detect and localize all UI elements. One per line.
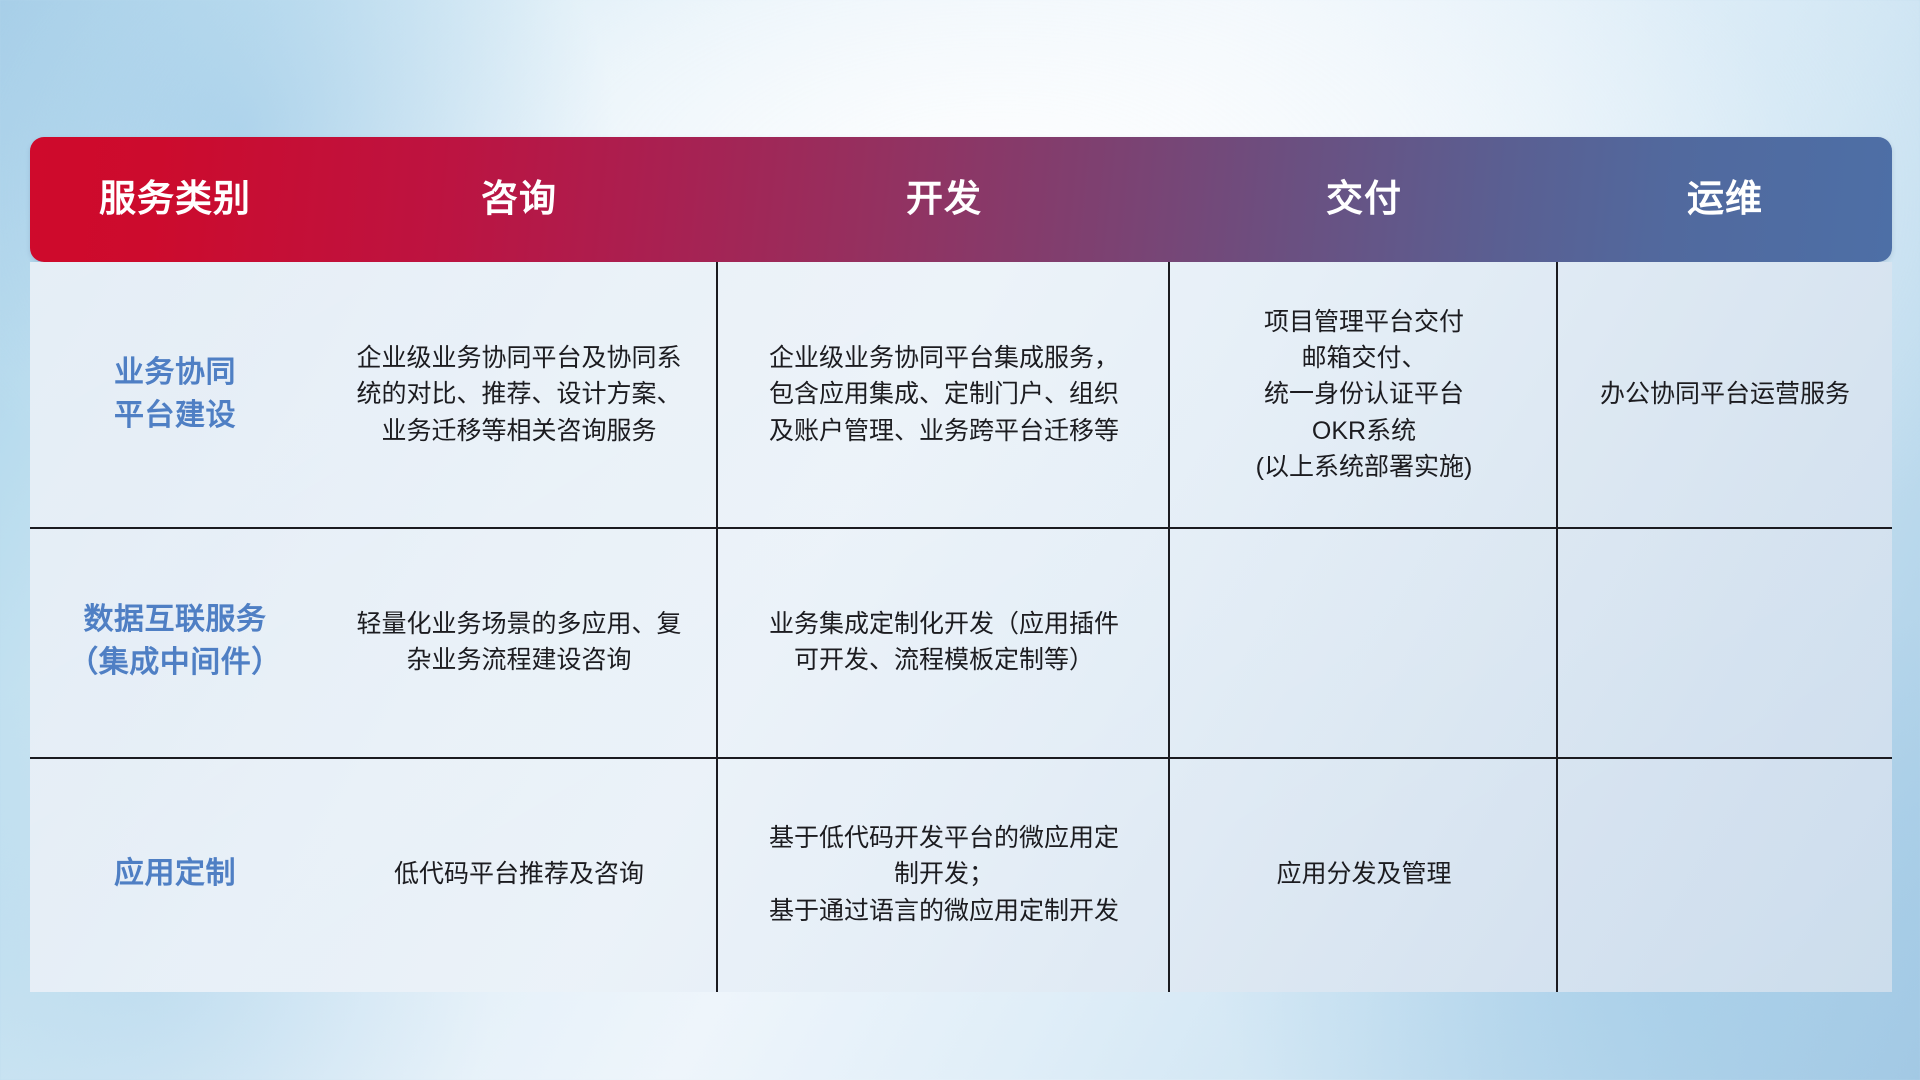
row-category-label: 业务协同 平台建设 [114,352,236,437]
row-category-cell: 应用定制 [30,757,320,992]
table-row: 数据互联服务 （集成中间件） 轻量化业务场景的多应用、复 杂业务流程建设咨询 业… [30,527,1892,757]
cell-delivery [1170,527,1558,757]
column-header-delivery: 交付 [1170,178,1558,221]
column-header-consulting: 咨询 [320,178,718,221]
row-category-label: 应用定制 [114,853,236,896]
cell-consulting: 低代码平台推荐及咨询 [320,757,718,992]
service-matrix-table: 服务类别 咨询 开发 交付 运维 业务协同 平台建设 企业级业务协同平台及协同系… [30,137,1892,967]
table-row: 应用定制 低代码平台推荐及咨询 基于低代码开发平台的微应用定 制开发； 基于通过… [30,757,1892,992]
cell-text: 应用分发及管理 [1276,856,1451,892]
column-header-development: 开发 [718,178,1170,221]
row-category-cell: 数据互联服务 （集成中间件） [30,527,320,757]
cell-text: 企业级业务协同平台及协同系 统的对比、推荐、设计方案、 业务迁移等相关咨询服务 [356,340,681,449]
cell-development: 基于低代码开发平台的微应用定 制开发； 基于通过语言的微应用定制开发 [718,757,1170,992]
cell-development: 企业级业务协同平台集成服务， 包含应用集成、定制门户、组织 及账户管理、业务跨平… [718,262,1170,527]
cell-operations [1558,757,1892,992]
cell-operations [1558,527,1892,757]
table-header-row: 服务类别 咨询 开发 交付 运维 [30,137,1892,262]
cell-consulting: 轻量化业务场景的多应用、复 杂业务流程建设咨询 [320,527,718,757]
cell-development: 业务集成定制化开发（应用插件 可开发、流程模板定制等） [718,527,1170,757]
cell-delivery: 应用分发及管理 [1170,757,1558,992]
table-body: 业务协同 平台建设 企业级业务协同平台及协同系 统的对比、推荐、设计方案、 业务… [30,262,1892,992]
cell-consulting: 企业级业务协同平台及协同系 统的对比、推荐、设计方案、 业务迁移等相关咨询服务 [320,262,718,527]
row-category-label: 数据互联服务 （集成中间件） [68,599,282,684]
cell-text: 轻量化业务场景的多应用、复 杂业务流程建设咨询 [356,606,681,679]
cell-text: 业务集成定制化开发（应用插件 可开发、流程模板定制等） [769,606,1119,679]
column-header-category: 服务类别 [30,178,320,221]
table-row: 业务协同 平台建设 企业级业务协同平台及协同系 统的对比、推荐、设计方案、 业务… [30,262,1892,527]
cell-text: 企业级业务协同平台集成服务， 包含应用集成、定制门户、组织 及账户管理、业务跨平… [769,340,1119,449]
cell-delivery: 项目管理平台交付 邮箱交付、 统一身份认证平台 OKR系统 (以上系统部署实施) [1170,262,1558,527]
cell-operations: 办公协同平台运营服务 [1558,262,1892,527]
cell-text: 办公协同平台运营服务 [1600,376,1850,412]
row-category-cell: 业务协同 平台建设 [30,262,320,527]
cell-text: 项目管理平台交付 邮箱交付、 统一身份认证平台 OKR系统 (以上系统部署实施) [1256,304,1473,485]
cell-text: 低代码平台推荐及咨询 [394,856,644,892]
cell-text: 基于低代码开发平台的微应用定 制开发； 基于通过语言的微应用定制开发 [769,820,1119,929]
column-header-operations: 运维 [1558,178,1892,221]
